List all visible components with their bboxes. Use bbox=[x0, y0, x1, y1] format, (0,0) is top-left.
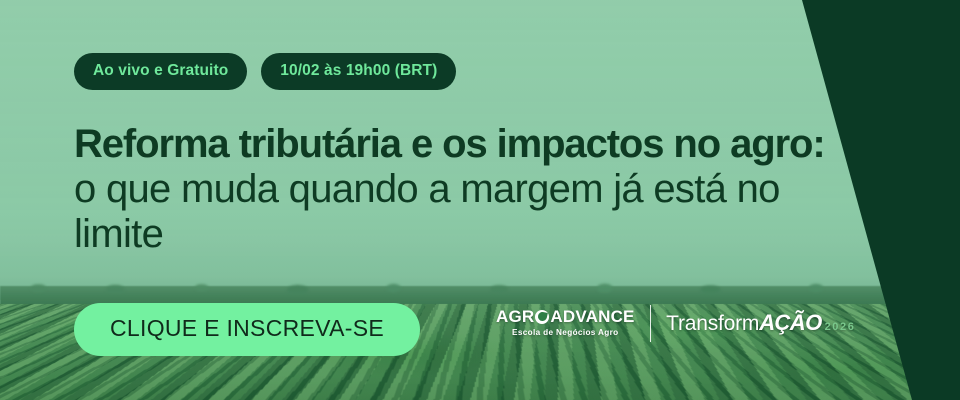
logo-divider bbox=[650, 305, 652, 342]
headline-regular-text: o que muda quando a margem já está no li… bbox=[74, 167, 780, 256]
datetime-badge: 10/02 às 19h00 (BRT) bbox=[261, 53, 456, 90]
register-cta-button[interactable]: CLIQUE E INSCREVA-SE bbox=[74, 303, 420, 356]
transformacao-bold-text: AÇÃO bbox=[759, 312, 821, 334]
transformacao-light-text: Transform bbox=[666, 313, 759, 334]
agro-advance-wordmark: AGR ADVANCE bbox=[496, 308, 635, 325]
agro-advance-tagline: Escola de Negócios Agro bbox=[512, 329, 618, 337]
webinar-promo-banner: Ao vivo e Gratuito 10/02 às 19h00 (BRT) … bbox=[0, 0, 960, 400]
agro-advance-logo: AGR ADVANCE Escola de Negócios Agro bbox=[496, 308, 635, 337]
page-title: Reforma tributária e os impactos no agro… bbox=[74, 122, 834, 257]
live-free-badge: Ao vivo e Gratuito bbox=[74, 53, 247, 90]
transformacao-year: 2026 bbox=[825, 322, 856, 333]
transformacao-logo: Transform AÇÃO 2026 bbox=[666, 312, 855, 334]
agro-word-after: ADVANCE bbox=[550, 308, 634, 325]
badge-group: Ao vivo e Gratuito 10/02 às 19h00 (BRT) bbox=[74, 53, 456, 90]
agro-word-before: AGR bbox=[496, 308, 534, 325]
logo-lockup: AGR ADVANCE Escola de Negócios Agro Tran… bbox=[496, 302, 855, 344]
leaf-circle-emblem bbox=[535, 310, 549, 324]
headline-bold-text: Reforma tributária e os impactos no agro… bbox=[74, 122, 825, 166]
